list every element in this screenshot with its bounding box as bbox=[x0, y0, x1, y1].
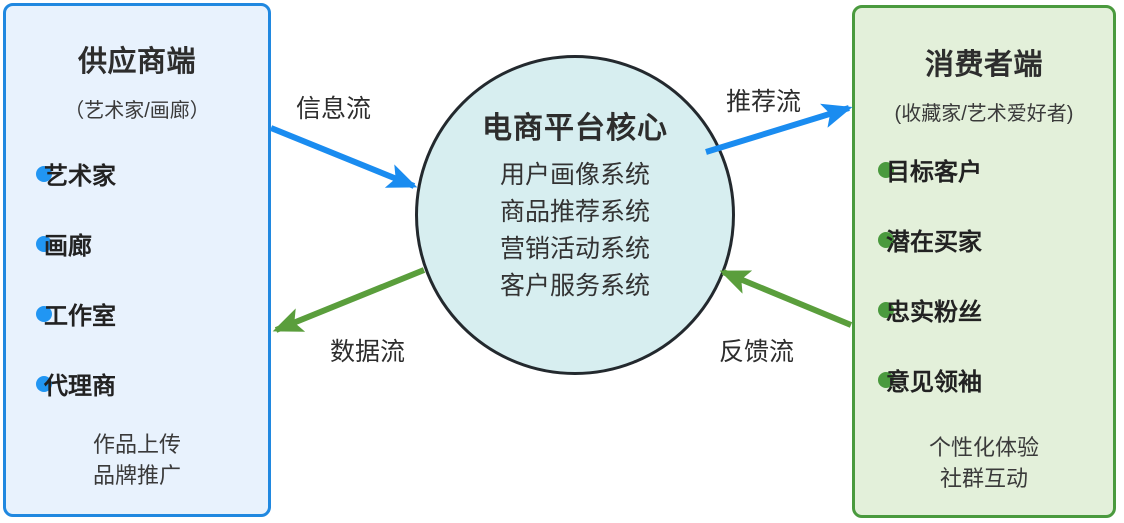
list-item[interactable]: 工作室 bbox=[36, 296, 256, 366]
consumer-panel-note: 个性化体验 社群互动 bbox=[855, 432, 1113, 494]
core-service-item: 商品推荐系统 bbox=[418, 194, 732, 231]
core-service-item: 客户服务系统 bbox=[418, 268, 732, 305]
core-service-item: 用户画像系统 bbox=[418, 157, 732, 194]
supplier-panel-subtitle: （艺术家/画廊） bbox=[6, 94, 268, 123]
flow-label-feedback: 反馈流 bbox=[719, 332, 794, 368]
list-item[interactable]: 代理商 bbox=[36, 366, 256, 436]
list-item-label: 目标客户 bbox=[886, 152, 982, 187]
consumer-item-list: 目标客户 潜在买家 忠实粉丝 意见领袖 bbox=[878, 152, 1098, 432]
list-item[interactable]: 忠实粉丝 bbox=[878, 292, 1098, 362]
supplier-panel-title: 供应商端 bbox=[6, 38, 268, 80]
list-item-label: 画廊 bbox=[44, 226, 92, 261]
supplier-note-line: 作品上传 bbox=[6, 429, 268, 460]
list-item-label: 工作室 bbox=[44, 296, 116, 331]
core-title: 电商平台核心 bbox=[418, 103, 732, 147]
flow-label-data: 数据流 bbox=[330, 332, 405, 368]
list-item[interactable]: 潜在买家 bbox=[878, 222, 1098, 292]
supplier-panel-note: 作品上传 品牌推广 bbox=[6, 429, 268, 491]
list-item[interactable]: 目标客户 bbox=[878, 152, 1098, 222]
consumer-note-line: 社群互动 bbox=[855, 463, 1113, 494]
core-platform-node: 电商平台核心 用户画像系统 商品推荐系统 营销活动系统 客户服务系统 bbox=[415, 55, 735, 375]
flow-arrow-feedback bbox=[723, 272, 851, 325]
flow-label-info: 信息流 bbox=[296, 89, 371, 125]
list-item-label: 忠实粉丝 bbox=[886, 292, 982, 327]
supplier-panel: 供应商端 （艺术家/画廊） 艺术家 画廊 工作室 代理商 作品上传 品牌推广 bbox=[3, 3, 271, 517]
diagram-canvas: 供应商端 （艺术家/画廊） 艺术家 画廊 工作室 代理商 作品上传 品牌推广 bbox=[0, 0, 1124, 523]
list-item[interactable]: 意见领袖 bbox=[878, 362, 1098, 432]
consumer-panel-subtitle: (收藏家/艺术爱好者) bbox=[855, 97, 1113, 126]
list-item-label: 意见领袖 bbox=[886, 362, 982, 397]
list-item-label: 潜在买家 bbox=[886, 222, 982, 257]
supplier-note-line: 品牌推广 bbox=[6, 460, 268, 491]
core-service-list: 用户画像系统 商品推荐系统 营销活动系统 客户服务系统 bbox=[418, 157, 732, 305]
list-item-label: 代理商 bbox=[44, 366, 116, 401]
list-item-label: 艺术家 bbox=[44, 156, 116, 191]
list-item[interactable]: 艺术家 bbox=[36, 156, 256, 226]
supplier-item-list: 艺术家 画廊 工作室 代理商 bbox=[36, 156, 256, 436]
consumer-note-line: 个性化体验 bbox=[855, 432, 1113, 463]
list-item[interactable]: 画廊 bbox=[36, 226, 256, 296]
flow-arrow-data bbox=[276, 270, 424, 330]
core-service-item: 营销活动系统 bbox=[418, 231, 732, 268]
consumer-panel-title: 消费者端 bbox=[855, 41, 1113, 83]
flow-arrow-info bbox=[271, 128, 414, 186]
flow-label-recommend: 推荐流 bbox=[726, 82, 801, 118]
